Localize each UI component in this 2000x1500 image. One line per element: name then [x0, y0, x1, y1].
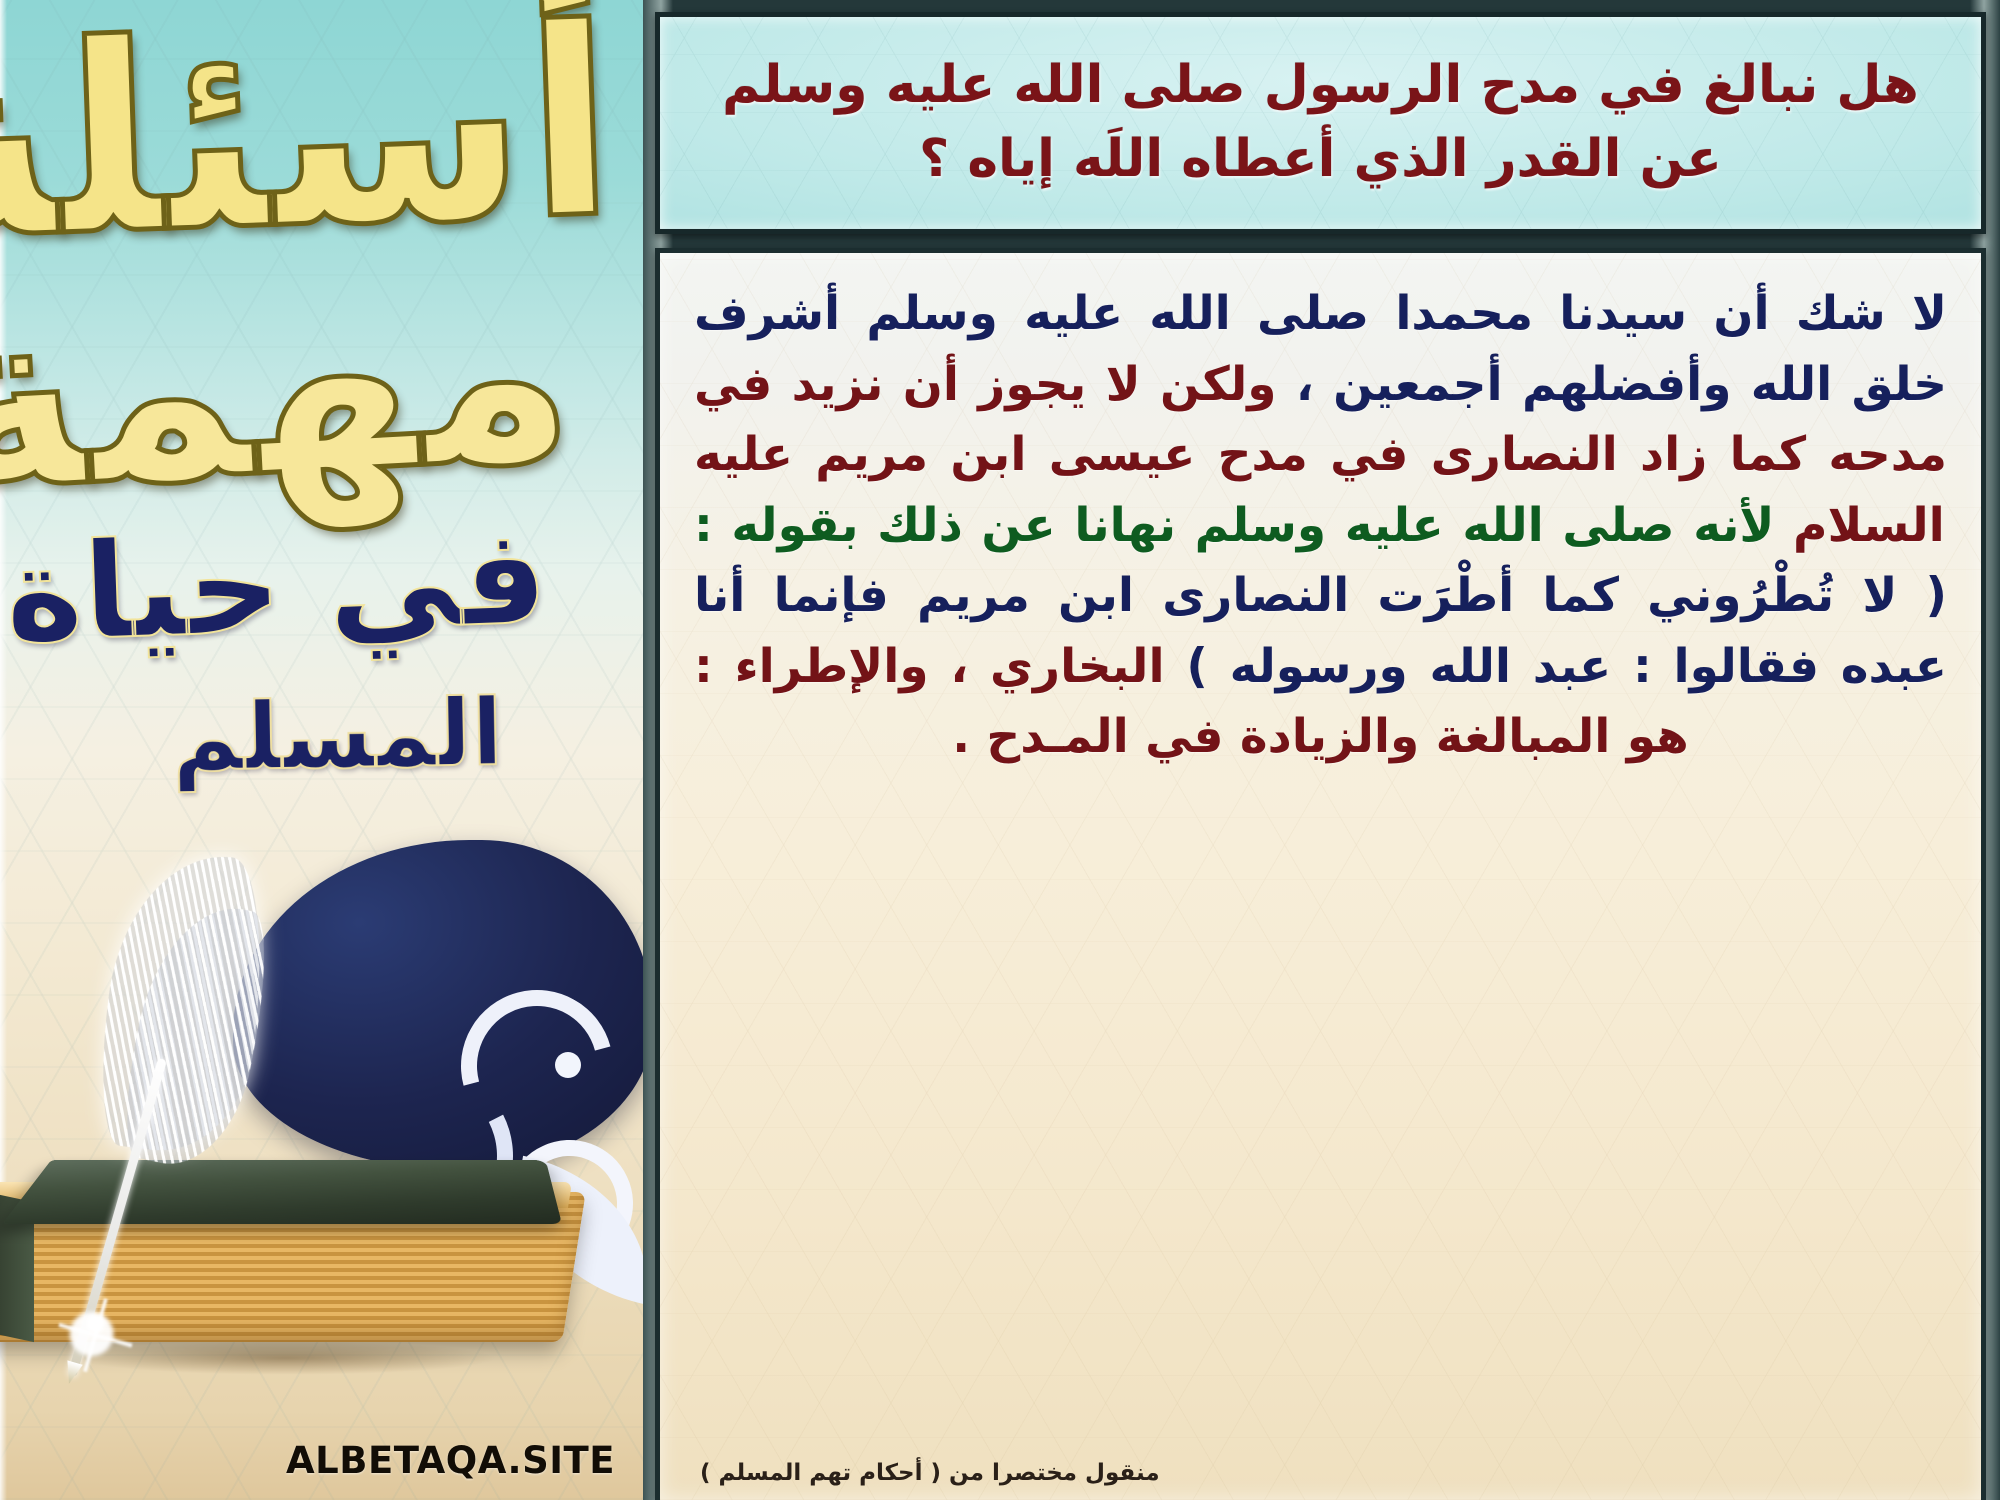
answer-body: لا شك أن سيدنا محمدا صلى الله عليه وسلم …	[694, 279, 1947, 1454]
site-watermark: ALBETAQA.SITE	[286, 1439, 615, 1482]
calligraphy-line-fi-hayat: في حياة	[2, 511, 549, 662]
calligraphy-line-muhimma: مهمة	[0, 245, 579, 528]
islamic-question-card: هل نبالغ في مدح الرسول صلى الله عليه وسل…	[0, 0, 2000, 1500]
decorative-column: أسئلة مهمة في حياة المسلم	[0, 0, 643, 1500]
question-title: هل نبالغ في مدح الرسول صلى الله عليه وسل…	[660, 49, 1981, 197]
content-column: هل نبالغ في مدح الرسول صلى الله عليه وسل…	[643, 0, 2000, 1500]
source-attribution: منقول مختصرا من ( أحكام تهم المسلم )	[700, 1460, 1941, 1486]
answer-panel: لا شك أن سيدنا محمدا صلى الله عليه وسلم …	[655, 248, 1986, 1500]
question-header-box: هل نبالغ في مدح الرسول صلى الله عليه وسل…	[655, 12, 1986, 234]
ornament-dot-icon	[555, 1052, 581, 1078]
answer-segment-3: لأنه صلى الله عليه وسلم نهانا عن ذلك بقو…	[694, 498, 1774, 553]
calligraphy-line-almuslim: المسلم	[171, 687, 504, 785]
calligraphy-title-group: أسئلة مهمة في حياة المسلم	[0, 0, 643, 760]
book-and-quill-illustration	[0, 720, 643, 1500]
